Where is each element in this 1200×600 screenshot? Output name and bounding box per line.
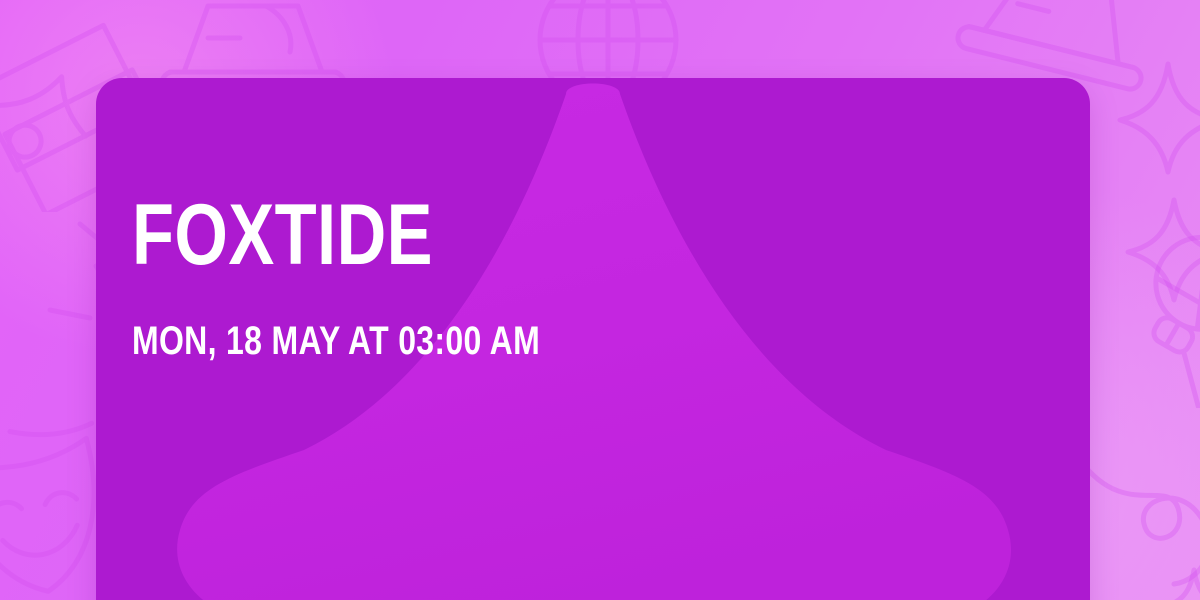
event-card-text: FOXTIDE MON, 18 MAY AT 03:00 AM [132, 196, 642, 361]
event-datetime: MON, 18 MAY AT 03:00 AM [132, 275, 540, 361]
page-title: FOXTIDE [132, 196, 540, 275]
event-card[interactable]: FOXTIDE MON, 18 MAY AT 03:00 AM [96, 78, 1090, 600]
event-banner: FOXTIDE MON, 18 MAY AT 03:00 AM [0, 0, 1200, 600]
